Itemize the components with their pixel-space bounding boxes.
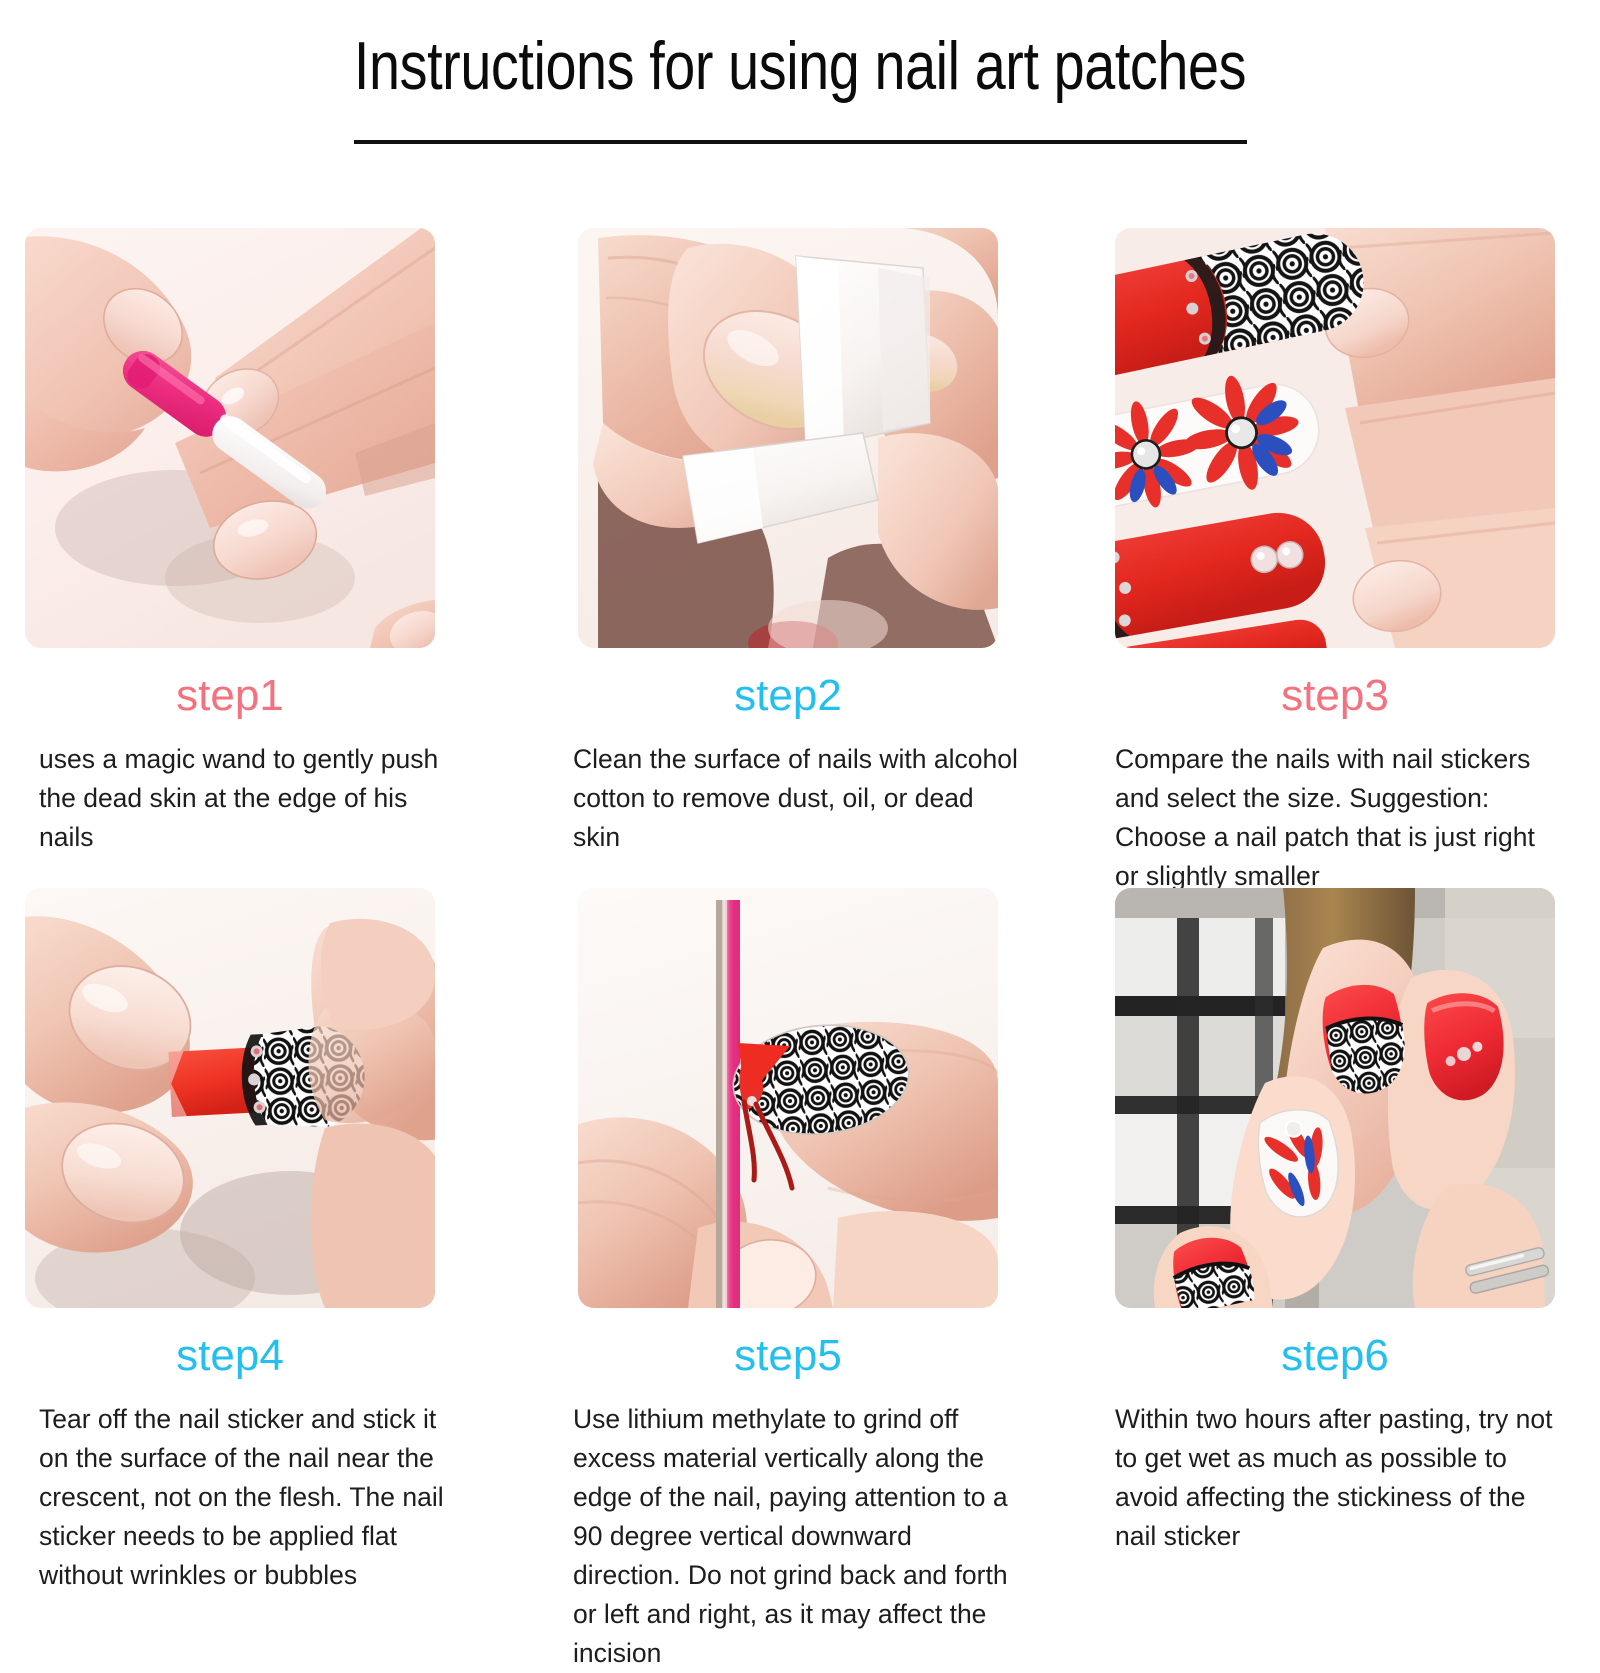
step-2-photo — [578, 228, 998, 648]
steps-grid-row-2: step4 Tear off the nail sticker and stic… — [0, 888, 1600, 1673]
page-header: Instructions for using nail art patches — [0, 0, 1600, 144]
finished-manicure-illustration — [1115, 888, 1555, 1308]
step-card-2: step2 Clean the surface of nails with al… — [545, 228, 1093, 896]
page-title: Instructions for using nail art patches — [144, 14, 1456, 104]
step-1-description: uses a magic wand to gently push the dea… — [39, 740, 469, 857]
step-6-description: Within two hours after pasting, try not … — [1115, 1400, 1565, 1556]
nail-sticker-sheet-illustration — [1115, 228, 1555, 648]
step-5-description: Use lithium methylate to grind off exces… — [573, 1400, 1023, 1673]
step-1-label: step1 — [25, 674, 435, 718]
step-6-photo — [1115, 888, 1555, 1308]
step-5-label: step5 — [578, 1334, 998, 1378]
step-2-label: step2 — [578, 674, 998, 718]
step-3-description: Compare the nails with nail stickers and… — [1115, 740, 1565, 896]
step-3-photo — [1115, 228, 1555, 648]
title-divider — [354, 140, 1247, 144]
step-4-label: step4 — [25, 1334, 435, 1378]
steps-grid-row-1: step1 uses a magic wand to gently push t… — [0, 228, 1600, 896]
step-3-label: step3 — [1115, 674, 1555, 718]
step-card-4: step4 Tear off the nail sticker and stic… — [0, 888, 545, 1673]
step-card-1: step1 uses a magic wand to gently push t… — [0, 228, 545, 896]
step-4-photo — [25, 888, 435, 1308]
step-card-6: step6 Within two hours after pasting, tr… — [1093, 888, 1600, 1673]
step-4-description: Tear off the nail sticker and stick it o… — [39, 1400, 469, 1595]
step-6-label: step6 — [1115, 1334, 1555, 1378]
applying-sticker-illustration — [25, 888, 435, 1308]
nail-file-grinding-illustration — [578, 888, 998, 1308]
step-card-5: step5 Use lithium methylate to grind off… — [545, 888, 1093, 1673]
step-5-photo — [578, 888, 998, 1308]
cotton-pad-cleaning-illustration — [578, 228, 998, 648]
cuticle-pusher-illustration — [25, 228, 435, 648]
step-card-3: step3 Compare the nails with nail sticke… — [1093, 228, 1600, 896]
step-2-description: Clean the surface of nails with alcohol … — [573, 740, 1023, 857]
step-1-photo — [25, 228, 435, 648]
